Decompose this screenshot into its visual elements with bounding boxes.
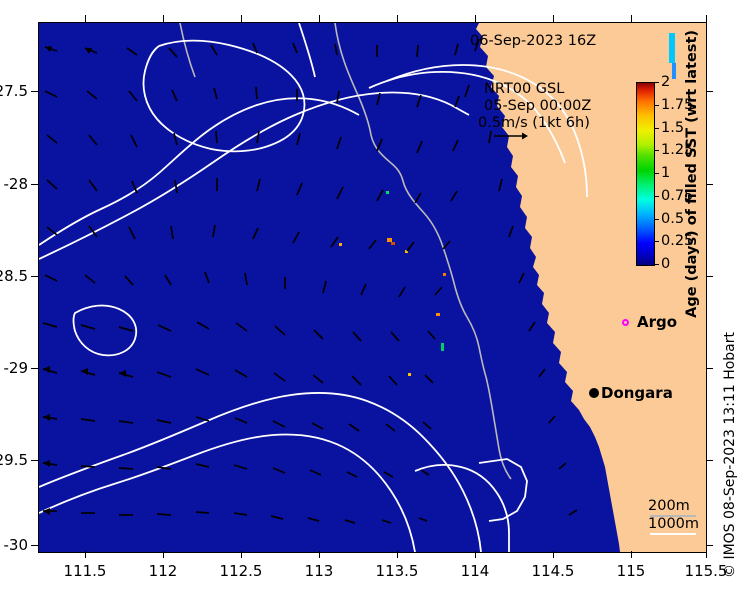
y-axis-tick-label: -28.5 (0, 267, 28, 285)
colorbar-gradient (637, 83, 654, 265)
y-tick-mark-right (706, 368, 713, 369)
colorbar-tick-mark (655, 105, 659, 106)
y-axis-tick-label: -29 (4, 359, 29, 377)
x-tick-mark (553, 551, 554, 558)
sst-age-map-figure: 06-Sep-2023 16Z NRT00 GSL 05-Sep 00:00Z … (0, 0, 740, 592)
x-axis-tick-label: 113 (305, 562, 334, 580)
x-tick-mark-top (163, 15, 164, 22)
colorbar-tick-mark (655, 173, 659, 174)
x-axis-tick-label: 114.5 (532, 562, 575, 580)
colorbar-tick-label: 0 (661, 256, 670, 272)
x-axis-tick-label: 112 (149, 562, 178, 580)
y-axis-tick-label: -27.5 (0, 82, 28, 100)
depth-200m-row: 200m (648, 498, 718, 516)
x-tick-mark (85, 551, 86, 558)
x-tick-mark-top (475, 15, 476, 22)
map-plot-area[interactable] (38, 22, 707, 553)
right-arrow-icon (494, 131, 528, 141)
colorbar-title-label: Age (days) of filled SST (wrt latest) (684, 30, 700, 318)
x-tick-mark (163, 551, 164, 558)
y-axis-tick-label: -29.5 (0, 451, 28, 469)
x-tick-mark (475, 551, 476, 558)
y-tick-mark-right (706, 276, 713, 277)
argo-label: Argo (637, 313, 677, 331)
colorbar-tick-label: 1 (661, 165, 670, 181)
colorbar-tick-mark (655, 128, 659, 129)
y-tick-mark-right (706, 91, 713, 92)
colorbar[interactable] (636, 82, 655, 266)
y-tick-mark (31, 460, 38, 461)
x-tick-mark (631, 551, 632, 558)
depth-contour-key: 200m 1000m (648, 498, 718, 534)
dongara-label: Dongara (601, 384, 673, 402)
x-axis-tick-label: 115 (617, 562, 646, 580)
map-canvas (39, 23, 706, 552)
x-tick-mark (241, 551, 242, 558)
colorbar-tick-mark (655, 264, 659, 265)
y-tick-mark (31, 91, 38, 92)
x-tick-mark-top (397, 15, 398, 22)
x-tick-mark-top (631, 15, 632, 22)
depth-1000m-row: 1000m (648, 516, 718, 534)
velocity-scale-label: 0.5m/s (1kt 6h) (478, 115, 590, 131)
x-axis-tick-label: 115.5 (685, 562, 728, 580)
colorbar-tick-mark (655, 196, 659, 197)
x-axis-tick-label: 112.5 (220, 562, 263, 580)
colorbar-tick-label: 0.5 (661, 211, 684, 227)
y-axis-tick-label: -28 (4, 175, 29, 193)
x-tick-mark-top (85, 15, 86, 22)
credit-label: © IMOS 08-Sep-2023 13:11 Hobart (722, 332, 738, 578)
colorbar-tick-mark (655, 241, 659, 242)
x-tick-mark-top (319, 15, 320, 22)
x-axis-tick-label: 114 (461, 562, 490, 580)
y-tick-mark (31, 184, 38, 185)
x-tick-mark (706, 551, 707, 558)
y-axis-tick-label: -30 (4, 536, 29, 554)
x-tick-mark (397, 551, 398, 558)
product-name-label: NRT00 GSL (484, 81, 564, 97)
y-tick-mark-right (706, 184, 713, 185)
x-tick-mark-top (706, 15, 707, 22)
y-tick-mark (31, 276, 38, 277)
product-time-label: 05-Sep 00:00Z (484, 98, 591, 114)
y-tick-mark (31, 545, 38, 546)
x-tick-mark-top (553, 15, 554, 22)
x-axis-tick-label: 113.5 (376, 562, 419, 580)
depth-200m-swatch (650, 515, 696, 517)
x-tick-mark-top (241, 15, 242, 22)
depth-1000m-swatch (650, 533, 696, 535)
colorbar-tick-mark (655, 150, 659, 151)
colorbar-tick-label: 2 (661, 74, 670, 90)
y-tick-mark-right (706, 545, 713, 546)
x-axis-tick-label: 111.5 (64, 562, 107, 580)
depth-200m-label: 200m (648, 498, 690, 514)
y-tick-mark-right (706, 460, 713, 461)
dongara-marker-icon (589, 388, 599, 398)
colorbar-tick-label: 1.5 (661, 120, 684, 136)
colorbar-tick-mark (655, 82, 659, 83)
y-tick-mark (31, 368, 38, 369)
map-graphics (39, 23, 706, 552)
map-timestamp-label: 06-Sep-2023 16Z (470, 33, 596, 49)
x-tick-mark (319, 551, 320, 558)
colorbar-tick-mark (655, 219, 659, 220)
argo-marker-icon (622, 319, 629, 326)
depth-1000m-label: 1000m (648, 516, 699, 532)
